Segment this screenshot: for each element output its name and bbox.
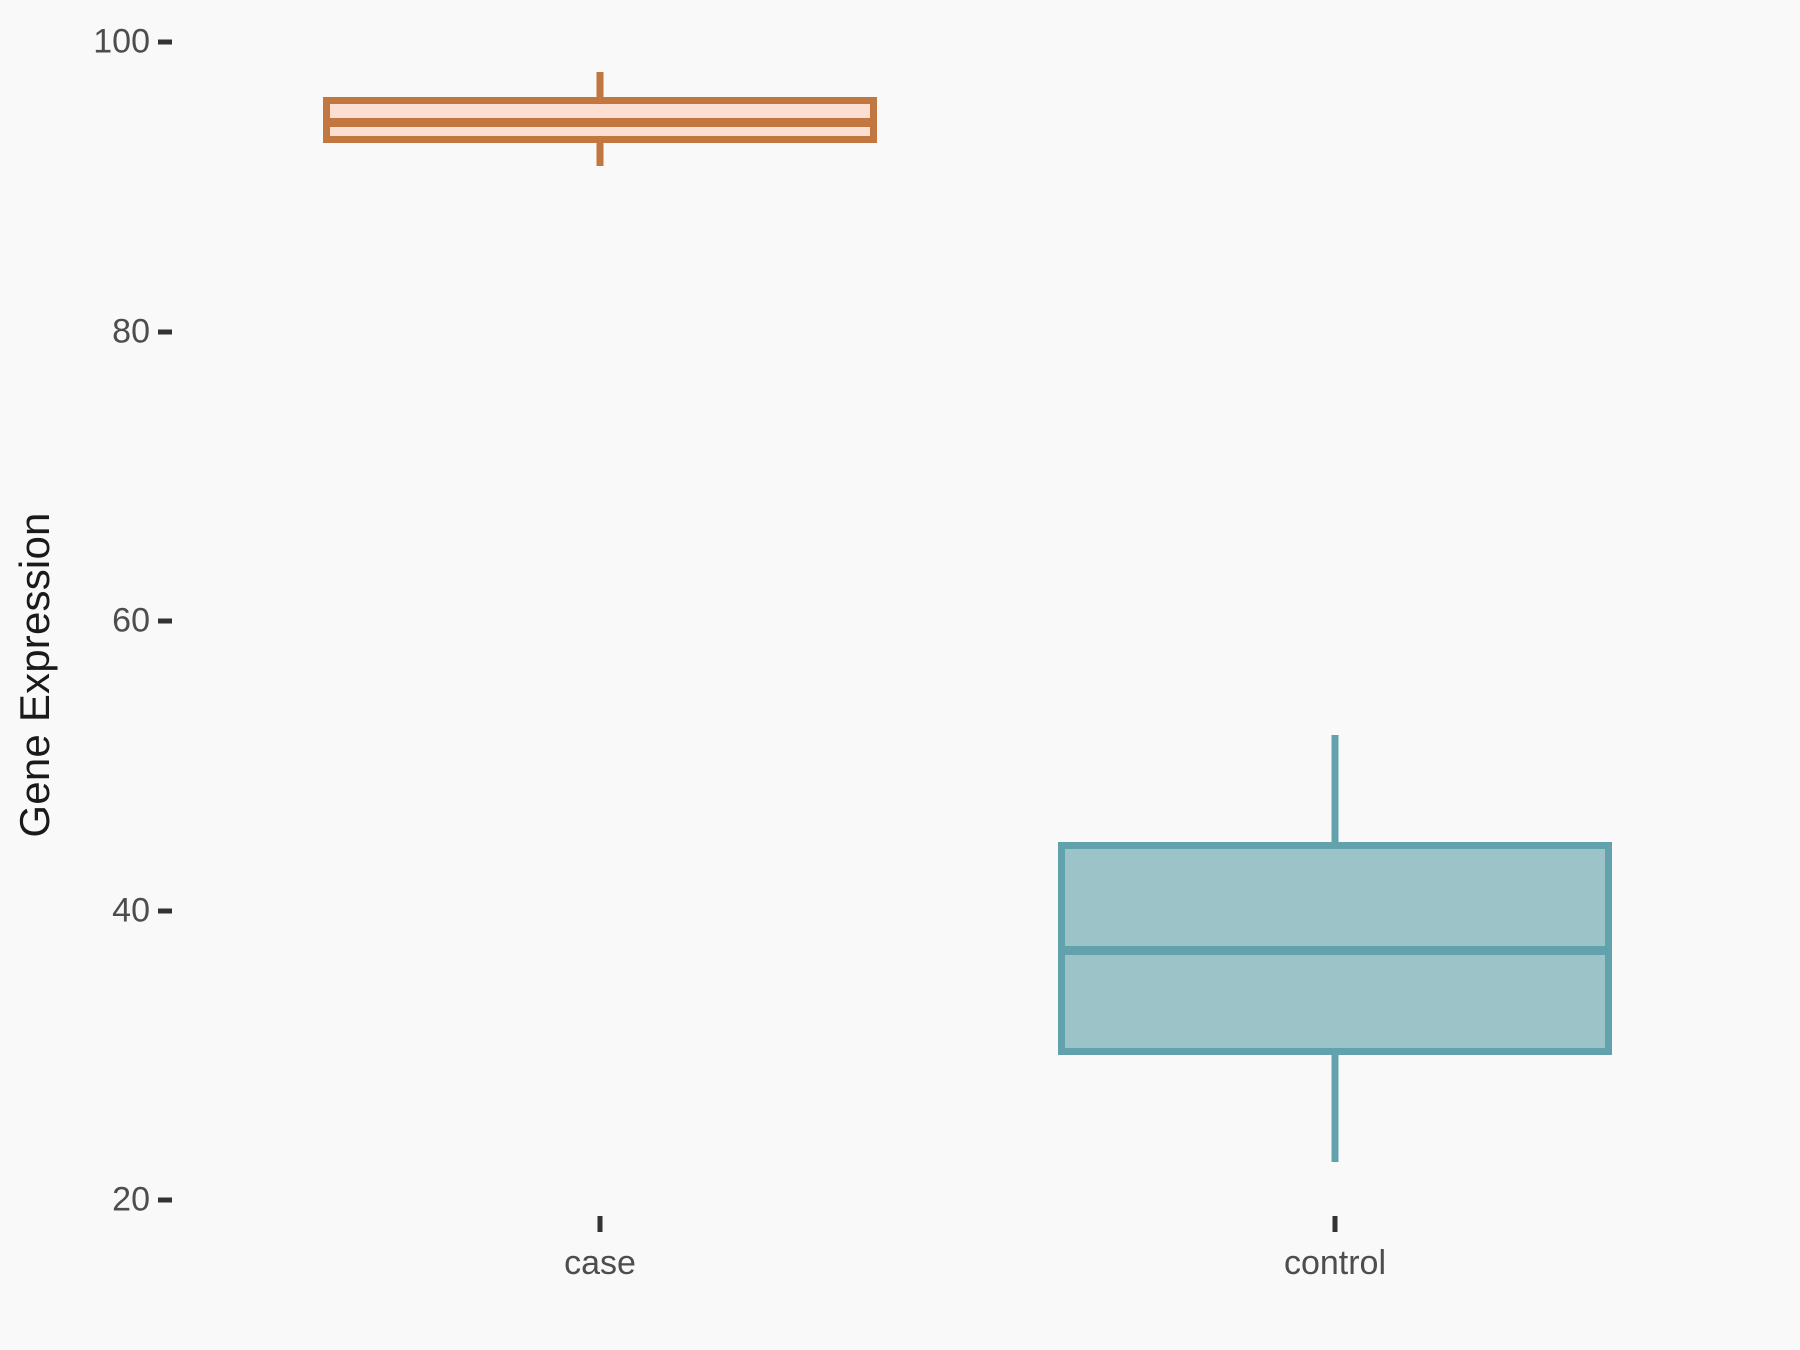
x-tick-label-case: case: [564, 1244, 636, 1283]
y-tick-label: 20: [30, 1181, 150, 1220]
whisker-lower-case: [597, 143, 604, 166]
y-tick-label: 40: [30, 891, 150, 930]
whisker-lower-control: [1332, 1055, 1339, 1162]
whisker-upper-case: [597, 72, 604, 97]
y-tick-label: 60: [30, 602, 150, 641]
y-tick-mark: [158, 40, 172, 45]
box-plot-figure: Gene Expression 10080604020 casecontrol: [0, 0, 1800, 1350]
x-tick-mark: [598, 1216, 603, 1232]
plot-panel-background: [0, 0, 1800, 1350]
median-line-control: [1058, 946, 1612, 955]
y-tick-label: 100: [30, 23, 150, 62]
x-tick-mark: [1333, 1216, 1338, 1232]
y-tick-label: 80: [30, 312, 150, 351]
whisker-upper-control: [1332, 735, 1339, 842]
y-tick-mark: [158, 908, 172, 913]
y-tick-mark: [158, 619, 172, 624]
y-tick-mark: [158, 1198, 172, 1203]
x-tick-label-control: control: [1284, 1244, 1386, 1283]
y-tick-mark: [158, 329, 172, 334]
median-line-case: [323, 118, 877, 127]
